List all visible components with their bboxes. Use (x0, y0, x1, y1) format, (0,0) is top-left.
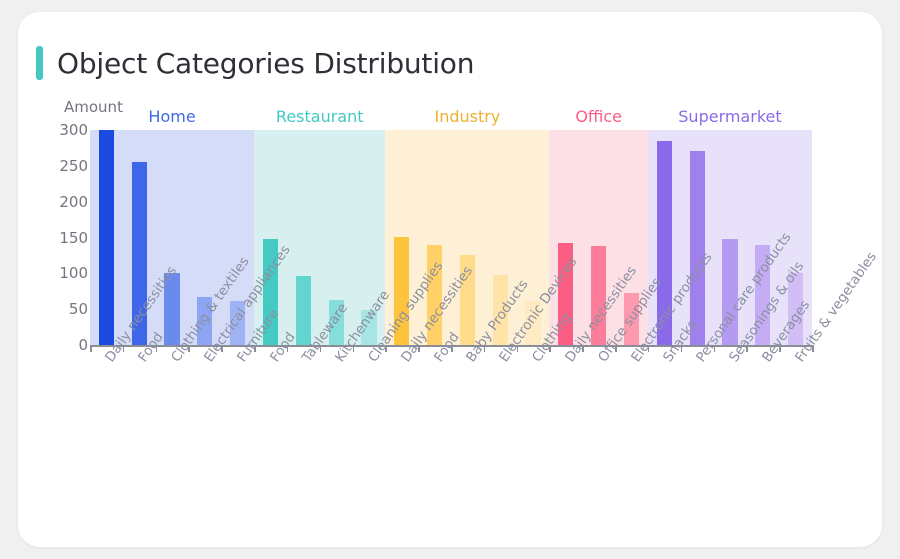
y-axis-tick-label: 50 (42, 300, 88, 318)
group-label-supermarket: Supermarket (678, 107, 781, 126)
y-axis-ticks: 050100150200250300 (42, 12, 88, 547)
bar[interactable] (99, 130, 114, 345)
bar[interactable] (690, 151, 705, 345)
group-label-industry: Industry (435, 107, 501, 126)
bar[interactable] (296, 276, 311, 345)
group-label-home: Home (148, 107, 195, 126)
x-axis-tick (90, 345, 92, 352)
y-axis-tick-label: 150 (42, 229, 88, 247)
group-label-restaurant: Restaurant (276, 107, 364, 126)
chart-plot-area: Amount 050100150200250300 HomeRestaurant… (18, 12, 882, 547)
y-axis-tick-label: 250 (42, 157, 88, 175)
chart-card: Object Categories Distribution Amount 05… (18, 12, 882, 547)
y-axis-tick-label: 200 (42, 193, 88, 211)
y-axis-tick-label: 100 (42, 264, 88, 282)
y-axis-tick-label: 300 (42, 121, 88, 139)
y-axis-tick-label: 0 (42, 336, 88, 354)
group-label-office: Office (575, 107, 622, 126)
